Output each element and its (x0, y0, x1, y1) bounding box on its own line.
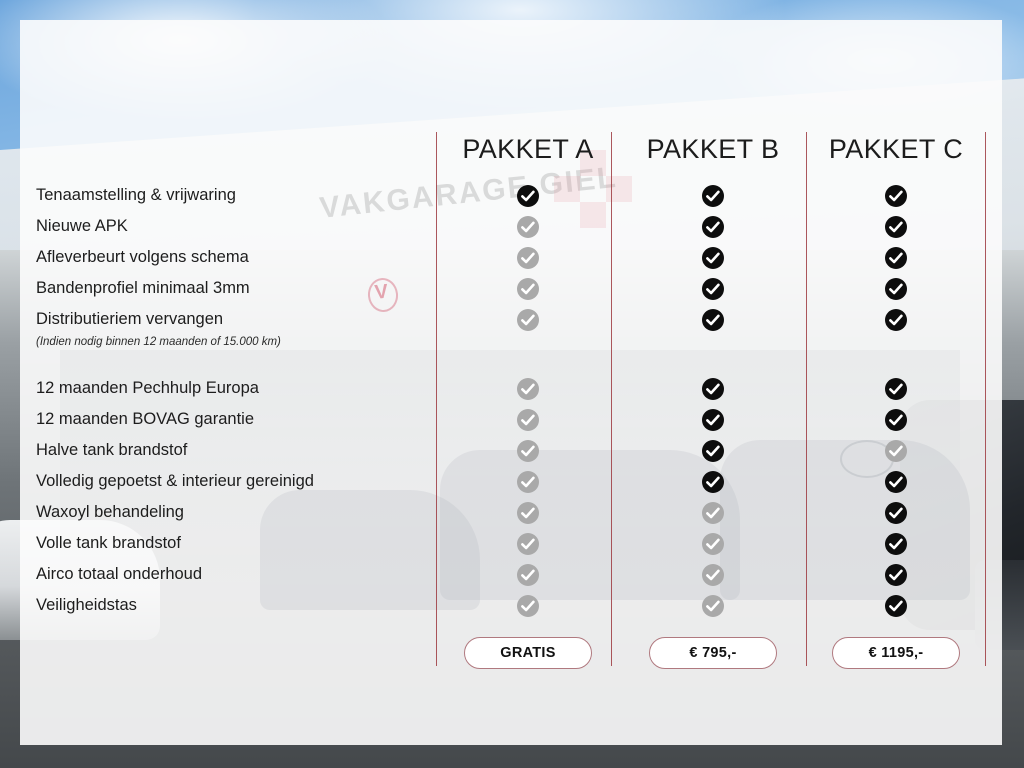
check-cell (618, 590, 808, 621)
check-cell (618, 211, 808, 242)
check-active-icon (885, 216, 907, 238)
check-cell (618, 435, 808, 466)
feature-label: Distributieriem vervangen (36, 304, 456, 335)
check-column-package-a (433, 180, 623, 621)
feature-label: Halve tank brandstof (36, 435, 456, 466)
feature-label-list: Tenaamstelling & vrijwaring Nieuwe APK A… (36, 180, 456, 621)
check-inactive-icon (517, 502, 539, 524)
check-cell (801, 528, 991, 559)
price-pill-package-a[interactable]: GRATIS (464, 637, 592, 669)
check-cell (801, 559, 991, 590)
check-cell (433, 590, 623, 621)
check-inactive-icon (702, 595, 724, 617)
check-cell (433, 373, 623, 404)
check-cell (618, 466, 808, 497)
check-cell (433, 528, 623, 559)
check-inactive-icon (517, 440, 539, 462)
column-header-package-c: PAKKET C (801, 134, 991, 165)
check-inactive-icon (517, 247, 539, 269)
feature-label: Airco totaal onderhoud (36, 559, 456, 590)
feature-label: Veiligheidstas (36, 590, 456, 621)
check-cell (618, 528, 808, 559)
check-inactive-icon (517, 533, 539, 555)
check-cell (618, 373, 808, 404)
feature-label: Bandenprofiel minimaal 3mm (36, 273, 456, 304)
check-inactive-icon (517, 564, 539, 586)
feature-sub-note: (Indien nodig binnen 12 maanden of 15.00… (36, 335, 456, 351)
check-inactive-icon (517, 595, 539, 617)
check-cell (801, 590, 991, 621)
check-cell (801, 211, 991, 242)
check-cell (618, 404, 808, 435)
check-active-icon (885, 247, 907, 269)
check-active-icon (702, 278, 724, 300)
check-inactive-icon (517, 216, 539, 238)
check-cell (801, 497, 991, 528)
check-group-gap (801, 351, 991, 373)
check-inactive-icon (517, 471, 539, 493)
check-cell (801, 466, 991, 497)
check-active-icon (702, 471, 724, 493)
feature-label: 12 maanden BOVAG garantie (36, 404, 456, 435)
check-inactive-icon (702, 502, 724, 524)
check-cell (433, 242, 623, 273)
check-column-package-b (618, 180, 808, 621)
feature-label: Waxoyl behandeling (36, 497, 456, 528)
check-cell (433, 559, 623, 590)
check-active-icon (702, 185, 724, 207)
check-cell (801, 435, 991, 466)
check-active-icon (885, 378, 907, 400)
check-cell (433, 211, 623, 242)
check-active-icon (702, 309, 724, 331)
check-inactive-icon (517, 278, 539, 300)
check-active-icon (885, 309, 907, 331)
feature-label: Tenaamstelling & vrijwaring (36, 180, 456, 211)
price-pill-package-c[interactable]: € 1195,- (832, 637, 960, 669)
feature-label: Afleverbeurt volgens schema (36, 242, 456, 273)
check-active-icon (885, 471, 907, 493)
check-active-icon (885, 595, 907, 617)
check-active-icon (702, 378, 724, 400)
check-cell (801, 242, 991, 273)
column-header-package-b: PAKKET B (618, 134, 808, 165)
check-cell (801, 273, 991, 304)
feature-label: 12 maanden Pechhulp Europa (36, 373, 456, 404)
check-cell (618, 242, 808, 273)
check-cell (801, 304, 991, 335)
check-cell (618, 304, 808, 335)
check-cell-note-spacer (801, 335, 991, 351)
check-cell (618, 180, 808, 211)
check-cell (433, 404, 623, 435)
check-active-icon (702, 440, 724, 462)
check-inactive-icon (702, 533, 724, 555)
check-active-icon (702, 216, 724, 238)
screenshot-stage: VAKGARAGE GIEL PAKKET A PAKKET B PAKKET … (0, 0, 1024, 768)
check-inactive-icon (517, 378, 539, 400)
check-inactive-icon (517, 309, 539, 331)
check-active-icon (885, 533, 907, 555)
check-cell (801, 404, 991, 435)
price-pill-package-b[interactable]: € 795,- (649, 637, 777, 669)
check-cell (433, 180, 623, 211)
check-inactive-icon (702, 564, 724, 586)
check-cell (433, 466, 623, 497)
check-cell (433, 435, 623, 466)
check-cell (433, 304, 623, 335)
feature-label: Nieuwe APK (36, 211, 456, 242)
check-cell (618, 273, 808, 304)
check-inactive-icon (517, 409, 539, 431)
check-cell (801, 180, 991, 211)
check-active-icon (885, 409, 907, 431)
check-group-gap (618, 351, 808, 373)
feature-group-gap (36, 351, 456, 373)
check-column-package-c (801, 180, 991, 621)
check-cell (618, 559, 808, 590)
check-active-icon (517, 185, 539, 207)
check-inactive-icon (885, 440, 907, 462)
column-header-package-a: PAKKET A (433, 134, 623, 165)
feature-label: Volledig gepoetst & interieur gereinigd (36, 466, 456, 497)
check-active-icon (885, 185, 907, 207)
check-cell-note-spacer (433, 335, 623, 351)
check-cell-note-spacer (618, 335, 808, 351)
check-active-icon (702, 409, 724, 431)
check-cell (433, 497, 623, 528)
check-cell (801, 373, 991, 404)
check-active-icon (885, 278, 907, 300)
content-panel: VAKGARAGE GIEL PAKKET A PAKKET B PAKKET … (20, 20, 1002, 745)
check-active-icon (885, 564, 907, 586)
check-active-icon (885, 502, 907, 524)
feature-label: Volle tank brandstof (36, 528, 456, 559)
check-active-icon (702, 247, 724, 269)
check-cell (618, 497, 808, 528)
check-cell (433, 273, 623, 304)
check-group-gap (433, 351, 623, 373)
